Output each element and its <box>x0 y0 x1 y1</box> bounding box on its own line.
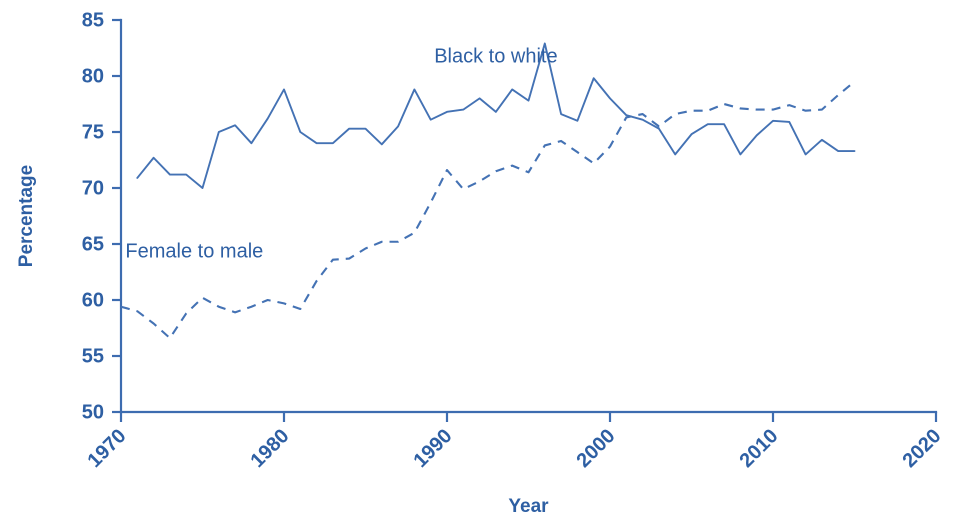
y-tick-label: 50 <box>82 401 104 423</box>
chart-container: 5055606570758085 19701980199020002010202… <box>0 0 976 531</box>
y-tick-label: 80 <box>82 65 104 87</box>
series-annotations: Black to whiteFemale to male <box>125 46 557 263</box>
y-tick-label: 85 <box>82 9 104 31</box>
y-axis-title: Percentage <box>16 165 37 267</box>
y-tick-label: 60 <box>82 289 104 311</box>
x-tick-label: 1970 <box>84 425 131 472</box>
x-tick-label: 2000 <box>573 425 620 472</box>
series-label-1: Black to white <box>434 46 557 68</box>
x-axis-group: 197019801990200020102020 <box>84 412 946 472</box>
x-tick-label: 1980 <box>247 425 294 472</box>
y-tick-label: 65 <box>82 233 104 255</box>
x-axis-ticks: 197019801990200020102020 <box>84 412 946 472</box>
series-label-2: Female to male <box>125 240 263 262</box>
y-axis-ticks: 5055606570758085 <box>82 9 121 423</box>
series-line-2 <box>121 82 855 338</box>
y-tick-label: 70 <box>82 177 104 199</box>
y-axis-group: 5055606570758085 <box>82 9 121 423</box>
series-layer <box>121 44 855 339</box>
x-tick-label: 1990 <box>410 425 457 472</box>
x-tick-label: 2020 <box>899 425 946 472</box>
x-tick-label: 2010 <box>736 425 783 472</box>
y-tick-label: 55 <box>82 345 104 367</box>
y-tick-label: 75 <box>82 121 104 143</box>
x-axis-title: Year <box>508 496 549 517</box>
line-chart: 5055606570758085 19701980199020002010202… <box>0 0 976 531</box>
